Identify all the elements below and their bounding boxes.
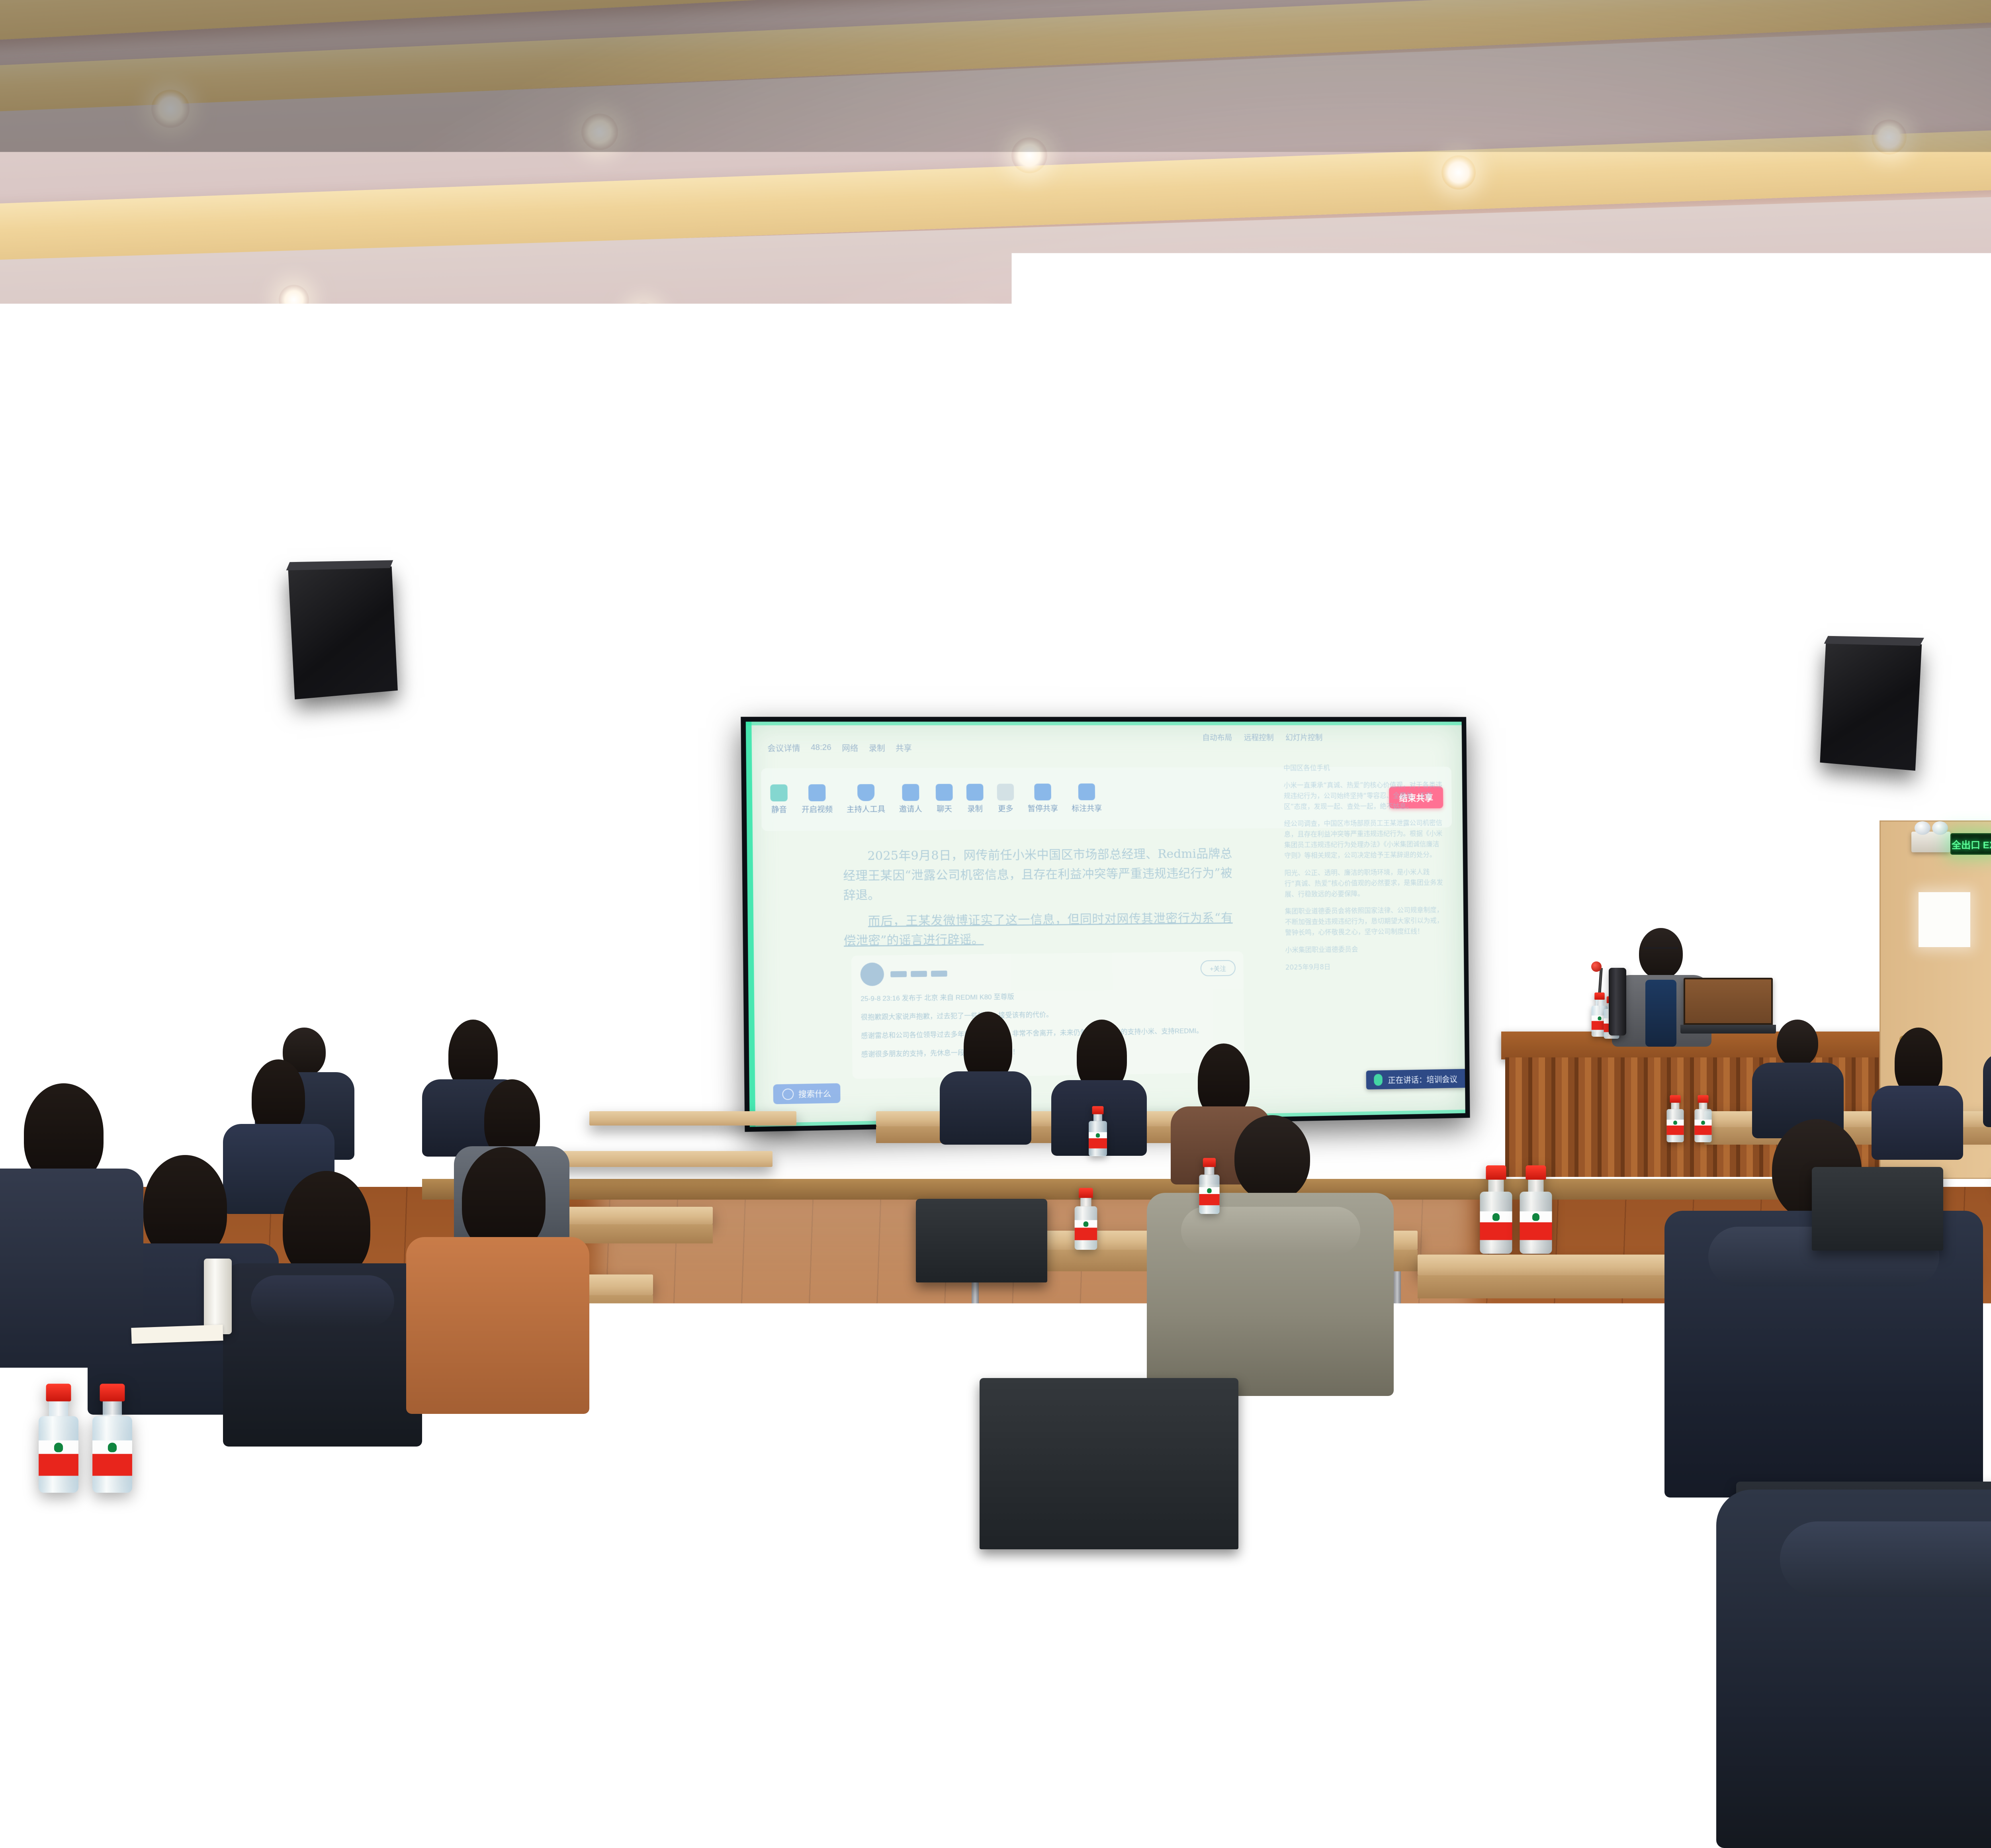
sidebar-paragraph: 阳光、公正、透明、廉洁的职场环境，是小米人践行“真诚、热爱”核心价值观的必然要求… bbox=[1285, 867, 1445, 900]
record-status-icon: 录制 bbox=[869, 742, 885, 753]
conference-chair[interactable] bbox=[1812, 1167, 1943, 1251]
ceiling-speaker-left bbox=[288, 566, 398, 699]
sidebar-paragraph: 小米一直秉承“真诚、热爱”的核心价值观，对于各类违规违纪行为，公司始终坚持“零容… bbox=[1283, 780, 1444, 812]
emergency-light bbox=[1911, 832, 1950, 852]
record-icon bbox=[966, 784, 984, 801]
remote-control-select[interactable]: 远程控制 bbox=[1244, 732, 1274, 743]
lectern-top bbox=[585, 964, 729, 1016]
attendee bbox=[1983, 1012, 1991, 1127]
record-button[interactable]: 录制 bbox=[966, 784, 984, 814]
shield-icon bbox=[857, 784, 874, 801]
pause-share-icon bbox=[1034, 783, 1051, 800]
water-bottle[interactable] bbox=[1666, 1095, 1684, 1142]
conference-chair[interactable] bbox=[1282, 1529, 1672, 1784]
pause-share-button[interactable]: 暂停共享 bbox=[1027, 783, 1058, 814]
conference-chair[interactable] bbox=[916, 1199, 1047, 1282]
ellipsis-icon bbox=[997, 784, 1014, 801]
sidebar-signature: 小米集团职业道德委员会 bbox=[1285, 944, 1445, 956]
attendee bbox=[1147, 1115, 1394, 1394]
water-bottle[interactable] bbox=[1694, 1095, 1711, 1142]
follow-button[interactable]: +关注 bbox=[1200, 960, 1236, 976]
weibo-line: 感谢雷总和公司各位领导过去多年的培养和信任，非常不舍离开，未来仍然会一如既往的支… bbox=[861, 1025, 1235, 1042]
chat-icon bbox=[936, 784, 953, 801]
slide-control-button[interactable]: 幻灯片控制 bbox=[1285, 732, 1322, 743]
shared-document-text: 2025年9月8日，网传前任小米中国区市场部总经理、Redmi品牌总经理王某因“… bbox=[843, 844, 1233, 957]
ceiling bbox=[0, 0, 1991, 585]
water-bottle[interactable] bbox=[39, 1384, 78, 1493]
training-desk bbox=[589, 1111, 796, 1126]
network-icon: 网络 bbox=[842, 742, 858, 753]
water-bottle[interactable] bbox=[1480, 1165, 1512, 1254]
more-button[interactable]: 更多 bbox=[997, 784, 1014, 814]
wall-notice-sheet bbox=[1919, 892, 1970, 947]
camera-icon bbox=[808, 784, 826, 801]
meeting-detail-label: 会议详情 bbox=[767, 742, 800, 754]
water-bottle[interactable] bbox=[1520, 1165, 1552, 1254]
host-tools-button[interactable]: 主持人工具 bbox=[846, 784, 885, 814]
attendee-jacket-on-chair bbox=[1716, 1490, 1991, 1848]
projector-mount-pole bbox=[1336, 372, 1348, 540]
conference-chair[interactable] bbox=[980, 1378, 1238, 1549]
sidebar-paragraph: 经公司调查，中国区市场部原员工王某泄露公司机密信息，且存在利益冲突等严重违规违纪… bbox=[1284, 818, 1445, 861]
conference-room-photo: 北京建机院2025年法律合规专题培训 会议详情 48:26 网络 录制 共享 自… bbox=[0, 0, 1991, 1848]
water-bottle[interactable] bbox=[1199, 1158, 1219, 1214]
exit-sign-label: 安全出口 EXIT bbox=[1950, 837, 1991, 851]
invite-button[interactable]: 邀请人 bbox=[899, 784, 922, 814]
handout-paper bbox=[131, 1325, 223, 1344]
avatar bbox=[860, 963, 884, 986]
annotate-share-button[interactable]: 标注共享 bbox=[1072, 783, 1102, 813]
start-video-button[interactable]: 开启视频 bbox=[801, 784, 833, 814]
share-status-icon: 共享 bbox=[896, 742, 912, 753]
taskbar-search-chip[interactable]: 搜索什么 bbox=[773, 1083, 840, 1104]
conference-chair[interactable] bbox=[725, 1482, 932, 1633]
microphone-icon bbox=[770, 784, 788, 801]
led-banner-text: 北京建机院2025年法律合规专题培训 bbox=[776, 558, 1637, 642]
ceiling-speaker-right bbox=[1820, 642, 1922, 771]
sidebar-title: 中国区各位手机 bbox=[1283, 763, 1444, 773]
layout-select[interactable]: 自动布局 bbox=[1202, 732, 1232, 743]
speaking-indicator-badge: 正在讲话：培训会议 bbox=[1366, 1069, 1465, 1090]
water-bottle[interactable] bbox=[1525, 1318, 1563, 1421]
training-desk-front bbox=[0, 1498, 589, 1533]
water-bottle[interactable] bbox=[1477, 1318, 1515, 1421]
water-bottle[interactable] bbox=[1075, 1188, 1097, 1250]
training-desk bbox=[0, 1466, 589, 1498]
meeting-status-bar: 会议详情 48:26 网络 录制 共享 bbox=[761, 731, 1440, 764]
exit-sign: 安全出口 EXIT bbox=[1950, 833, 1991, 855]
weibo-meta: 25-9-8 23:16 发布于 北京 来自 REDMI K80 至尊版 bbox=[861, 989, 1235, 1005]
lectern-body bbox=[629, 1015, 689, 1106]
attendee bbox=[406, 1147, 589, 1410]
share-control-group: 自动布局 远程控制 幻灯片控制 bbox=[1202, 732, 1322, 743]
attendee bbox=[940, 1012, 1031, 1131]
microphone-icon bbox=[1374, 1074, 1383, 1086]
sidebar-date: 2025年9月8日 bbox=[1285, 961, 1446, 973]
document-paragraph: 而后，王某发微博证实了这一信息，但同时对网传其泄密行为系“有偿泄密”的谣言进行辟… bbox=[843, 908, 1233, 951]
thermos-cup[interactable] bbox=[204, 1259, 232, 1334]
search-icon bbox=[782, 1088, 794, 1100]
chat-button[interactable]: 聊天 bbox=[936, 784, 953, 814]
projector-lens bbox=[1311, 566, 1379, 601]
microphone-head bbox=[1591, 961, 1602, 972]
attendee bbox=[0, 1083, 143, 1362]
add-user-icon bbox=[902, 784, 919, 801]
water-bottle[interactable] bbox=[1089, 1106, 1107, 1156]
mute-button[interactable]: 静音 bbox=[770, 784, 788, 814]
attendee bbox=[223, 1171, 422, 1442]
thermos-cup[interactable] bbox=[1609, 968, 1626, 1036]
sidebar-paragraph: 集团职业道德委员会将依照国家法律、公司规章制度，不断加强查处违规违纪行为，恳切期… bbox=[1285, 905, 1445, 939]
shared-document-sidebar: 中国区各位手机 小米一直秉承“真诚、热爱”的核心价值观，对于各类违规违纪行为，公… bbox=[1283, 763, 1446, 980]
weibo-line: 很抱歉跟大家说声抱歉，过去犯了一些错误，接受该有的代价。 bbox=[861, 1007, 1235, 1023]
meeting-timer: 48:26 bbox=[811, 743, 831, 752]
annotate-icon bbox=[1078, 783, 1095, 800]
conference-chair[interactable] bbox=[378, 1617, 729, 1840]
document-paragraph: 2025年9月8日，网传前任小米中国区市场部总经理、Redmi品牌总经理王某因“… bbox=[843, 844, 1233, 905]
led-banner: 北京建机院2025年法律合规专题培训 bbox=[692, 544, 1721, 654]
water-bottle[interactable] bbox=[92, 1384, 132, 1493]
